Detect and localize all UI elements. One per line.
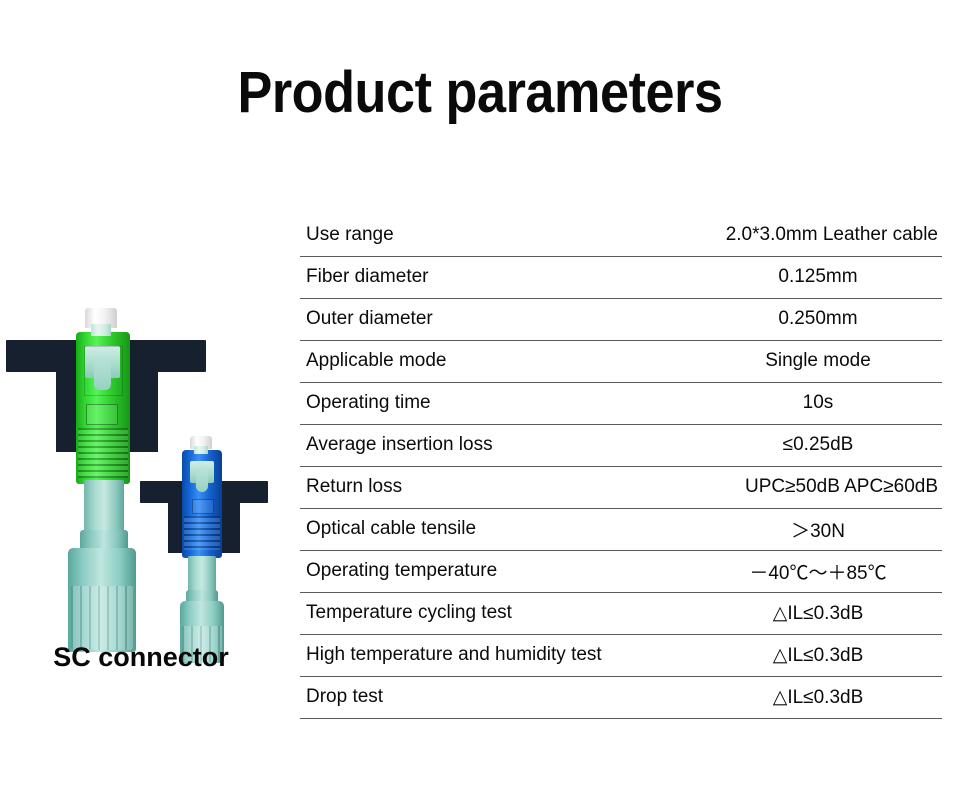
spec-value: 0.250mm <box>696 298 942 340</box>
spec-value: △IL≤0.3dB <box>696 676 942 718</box>
spec-value: Single mode <box>696 340 942 382</box>
figure-caption: SC connector <box>0 642 282 673</box>
table-row: Temperature cycling test △IL≤0.3dB <box>300 592 942 634</box>
spec-label: Outer diameter <box>300 298 696 340</box>
spec-label: Applicable mode <box>300 340 696 382</box>
spec-value: ＞30N <box>696 508 942 550</box>
table-row: Drop test △IL≤0.3dB <box>300 676 942 718</box>
green-dust-cap-neck <box>91 324 111 336</box>
page-title: Product parameters <box>48 64 912 122</box>
spec-value: △IL≤0.3dB <box>696 634 942 676</box>
spec-value: 10s <box>696 382 942 424</box>
table-row: Optical cable tensile ＞30N <box>300 508 942 550</box>
product-parameters-table: Use range 2.0*3.0mm Leather cable Fiber … <box>300 214 942 719</box>
table-row: Applicable mode Single mode <box>300 340 942 382</box>
spec-label: Use range <box>300 214 696 256</box>
green-clip-stem-right <box>126 340 158 452</box>
spec-label: Optical cable tensile <box>300 508 696 550</box>
spec-label: Fiber diameter <box>300 256 696 298</box>
spec-value: △IL≤0.3dB <box>696 592 942 634</box>
blue-dust-cap-neck <box>194 446 208 454</box>
green-shell-ribs <box>78 428 128 478</box>
blue-shell-ribs <box>184 516 220 550</box>
green-boot-flutes <box>71 586 133 650</box>
table-row: Operating time 10s <box>300 382 942 424</box>
spec-label: Operating temperature <box>300 550 696 592</box>
spec-value: 2.0*3.0mm Leather cable <box>696 214 942 256</box>
blue-shell-plate <box>192 499 214 514</box>
table-row: High temperature and humidity test △IL≤0… <box>300 634 942 676</box>
table-row: Average insertion loss ≤0.25dB <box>300 424 942 466</box>
product-figure: SC connector <box>0 290 296 710</box>
table-row: Fiber diameter 0.125mm <box>300 256 942 298</box>
spec-label: High temperature and humidity test <box>300 634 696 676</box>
spec-value: －40℃～＋85℃ <box>696 550 942 592</box>
table-row: Return loss UPC≥50dB APC≥60dB <box>300 466 942 508</box>
green-ferrule-neck <box>84 480 124 536</box>
spec-table-body: Use range 2.0*3.0mm Leather cable Fiber … <box>300 214 942 718</box>
spec-value: ≤0.25dB <box>696 424 942 466</box>
table-row: Operating temperature －40℃～＋85℃ <box>300 550 942 592</box>
spec-value: 0.125mm <box>696 256 942 298</box>
spec-label: Average insertion loss <box>300 424 696 466</box>
spec-label: Temperature cycling test <box>300 592 696 634</box>
product-photo <box>0 290 296 650</box>
green-shell-latch <box>84 346 123 396</box>
spec-label: Operating time <box>300 382 696 424</box>
blue-shell-window-inner <box>196 470 208 492</box>
spec-value: UPC≥50dB APC≥60dB <box>696 466 942 508</box>
spec-label: Drop test <box>300 676 696 718</box>
spec-label: Return loss <box>300 466 696 508</box>
table-row: Use range 2.0*3.0mm Leather cable <box>300 214 942 256</box>
green-shell-plate <box>86 404 118 425</box>
blue-ferrule-neck <box>188 556 216 594</box>
table-row: Outer diameter 0.250mm <box>300 298 942 340</box>
